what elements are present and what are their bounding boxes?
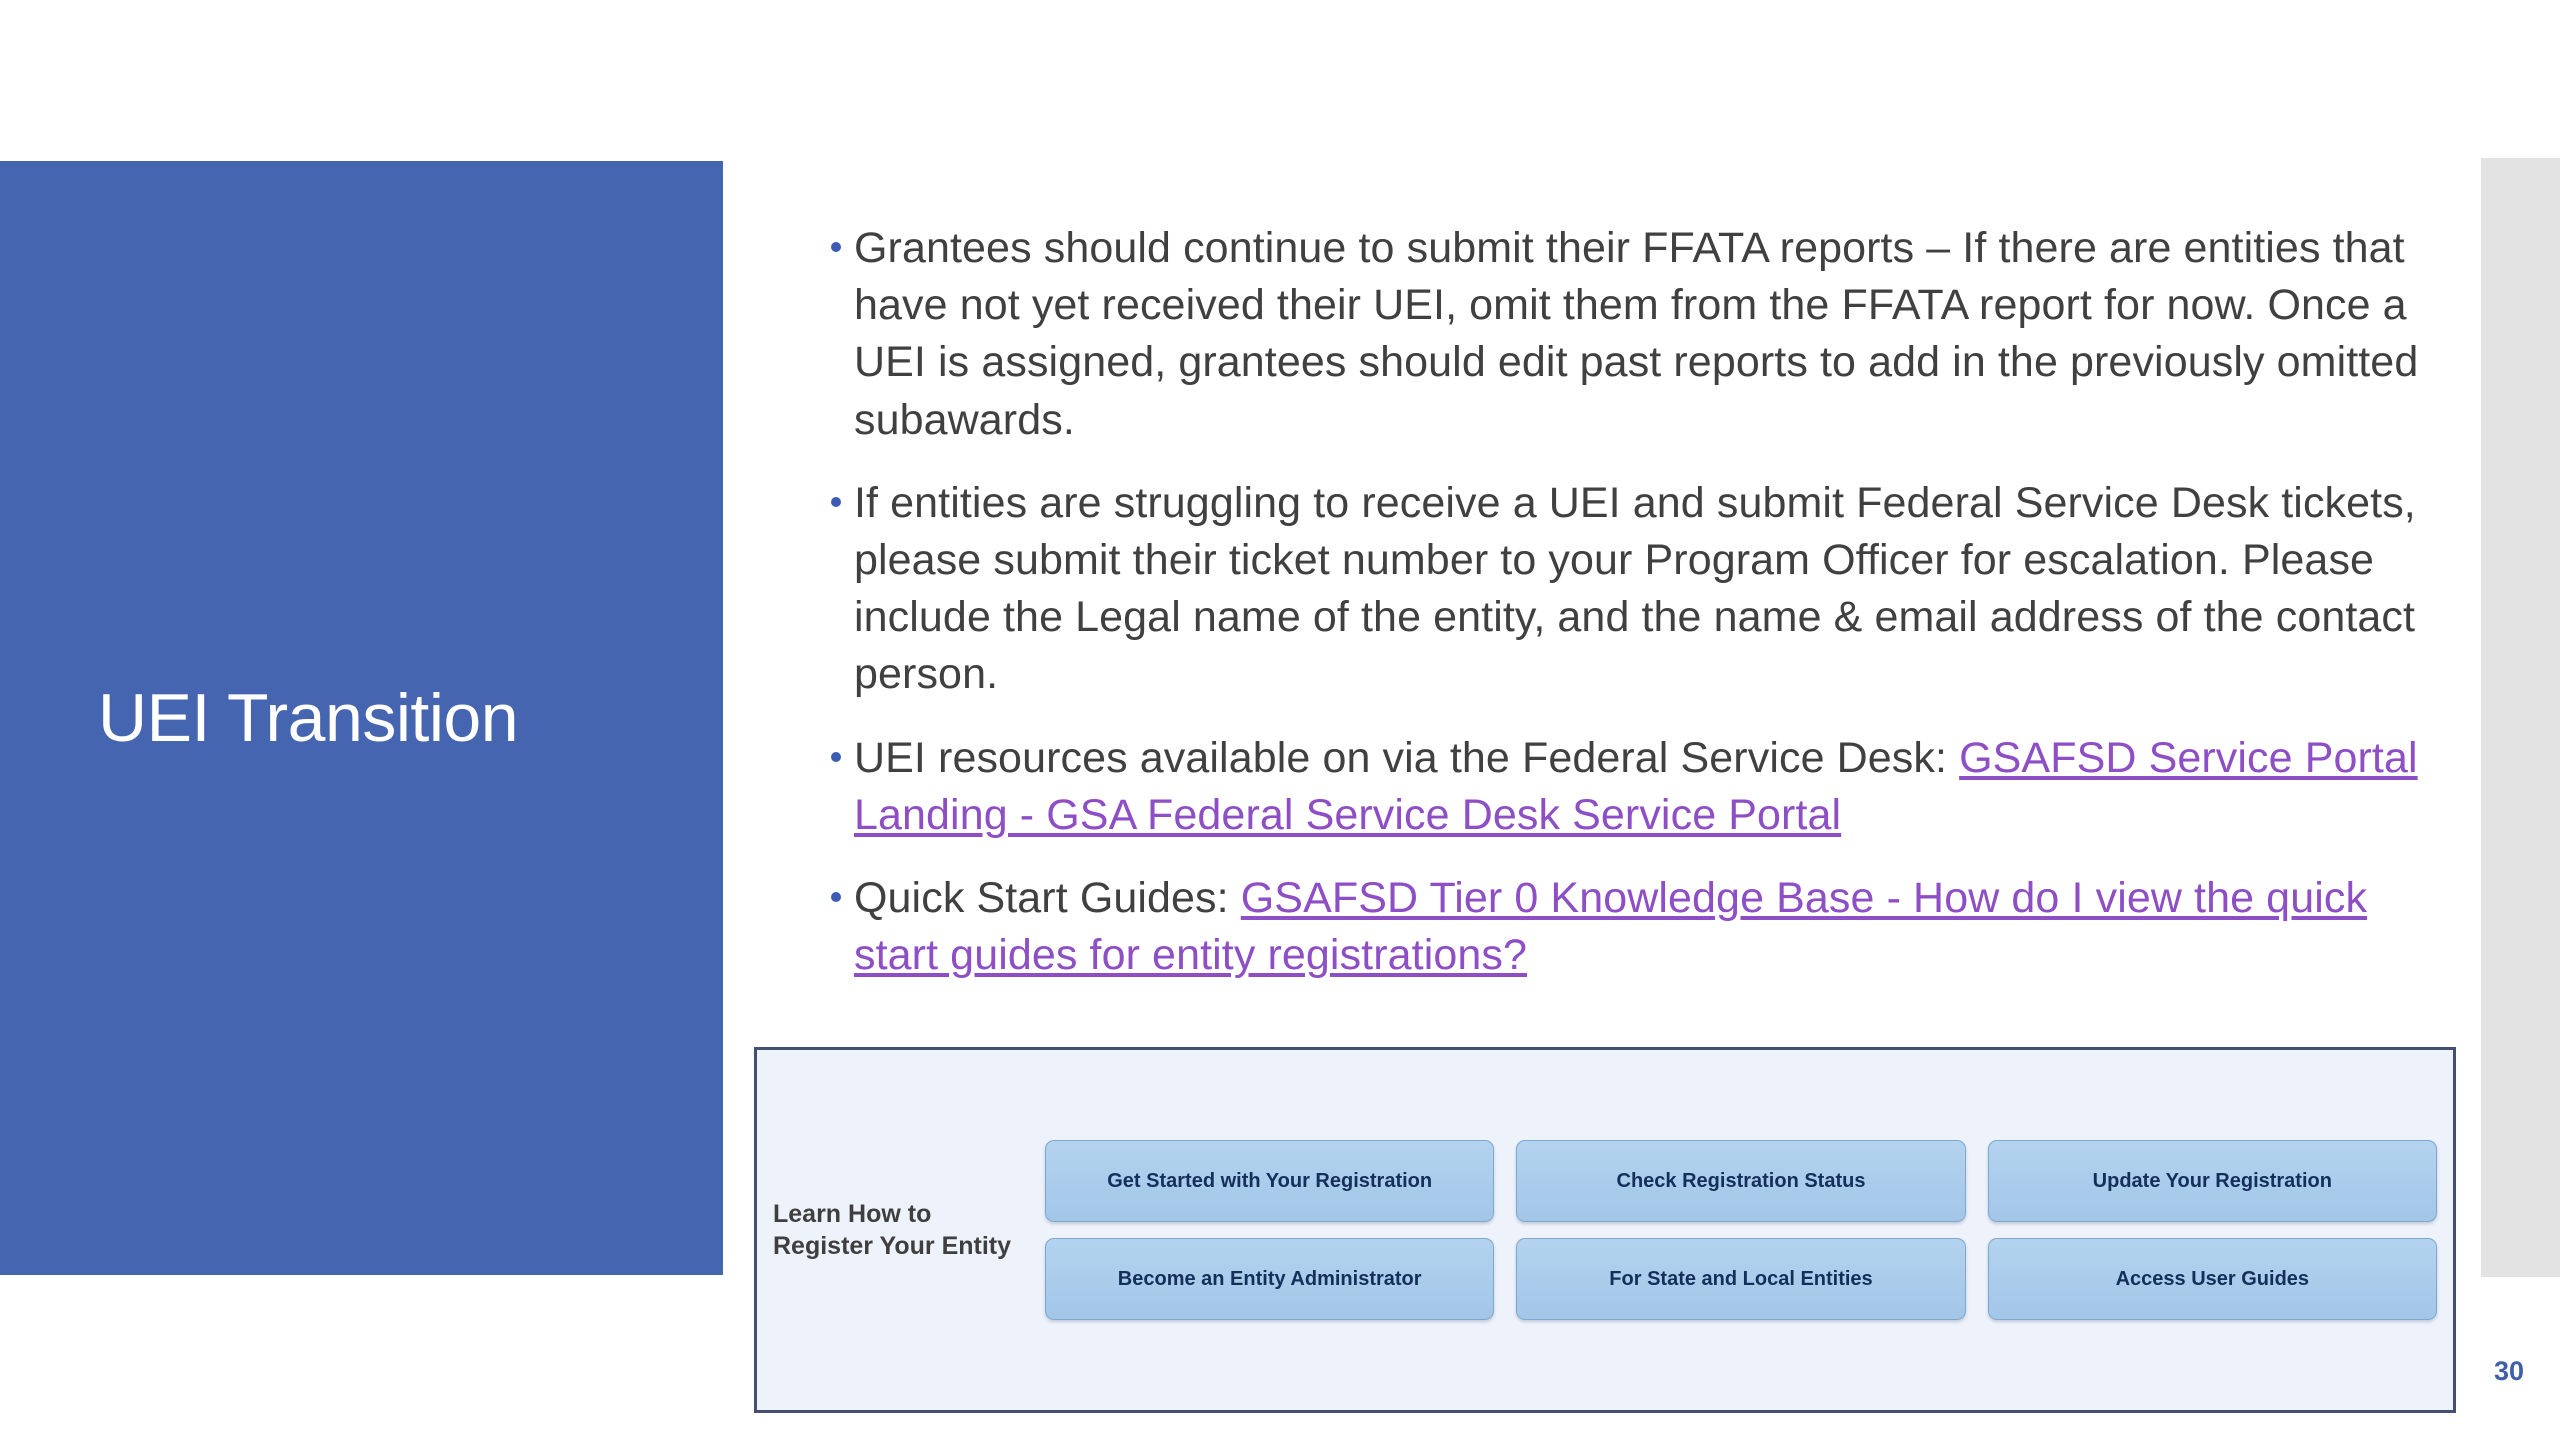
bullet-dot-icon — [818, 475, 854, 507]
bullet-dot-icon — [818, 870, 854, 902]
bullet-text: Quick Start Guides: GSAFSD Tier 0 Knowle… — [854, 870, 2458, 984]
bullet-item-quick-start-guides: Quick Start Guides: GSAFSD Tier 0 Knowle… — [818, 870, 2458, 984]
bullet-text: UEI resources available on via the Feder… — [854, 730, 2458, 844]
slide-bullet-list: Grantees should continue to submit their… — [818, 220, 2458, 1010]
button-access-user-guides[interactable]: Access User Guides — [1988, 1238, 2437, 1320]
register-card-title: Learn How to Register Your Entity — [773, 1198, 1031, 1263]
button-get-started-with-your-registration[interactable]: Get Started with Your Registration — [1045, 1140, 1494, 1222]
register-button-grid: Get Started with Your Registration Check… — [1045, 1140, 2437, 1320]
register-entity-card: Learn How to Register Your Entity Get St… — [754, 1047, 2456, 1413]
bullet-item-ffata-reports: Grantees should continue to submit their… — [818, 220, 2458, 449]
bullet-item-service-desk-tickets: If entities are struggling to receive a … — [818, 475, 2458, 704]
button-for-state-and-local-entities[interactable]: For State and Local Entities — [1516, 1238, 1965, 1320]
button-update-your-registration[interactable]: Update Your Registration — [1988, 1140, 2437, 1222]
bullet-dot-icon — [818, 220, 854, 252]
bullet-text-segment: If entities are struggling to receive a … — [854, 479, 2416, 699]
button-check-registration-status[interactable]: Check Registration Status — [1516, 1140, 1965, 1222]
slide-title: UEI Transition — [0, 681, 518, 756]
bullet-text: Grantees should continue to submit their… — [854, 220, 2458, 449]
slide-page-number: 30 — [2494, 1356, 2524, 1387]
bullet-text-segment: Quick Start Guides: — [854, 874, 1241, 922]
bullet-dot-icon — [818, 730, 854, 762]
bullet-text-segment: UEI resources available on via the Feder… — [854, 734, 1959, 782]
bullet-item-uei-resources: UEI resources available on via the Feder… — [818, 730, 2458, 844]
button-become-an-entity-administrator[interactable]: Become an Entity Administrator — [1045, 1238, 1494, 1320]
presentation-slide: UEI Transition Grantees should continue … — [0, 0, 2560, 1440]
bullet-text-segment: Grantees should continue to submit their… — [854, 224, 2418, 444]
slide-title-panel: UEI Transition — [0, 161, 723, 1275]
bullet-text: If entities are struggling to receive a … — [854, 475, 2458, 704]
right-gray-strip — [2481, 158, 2560, 1277]
